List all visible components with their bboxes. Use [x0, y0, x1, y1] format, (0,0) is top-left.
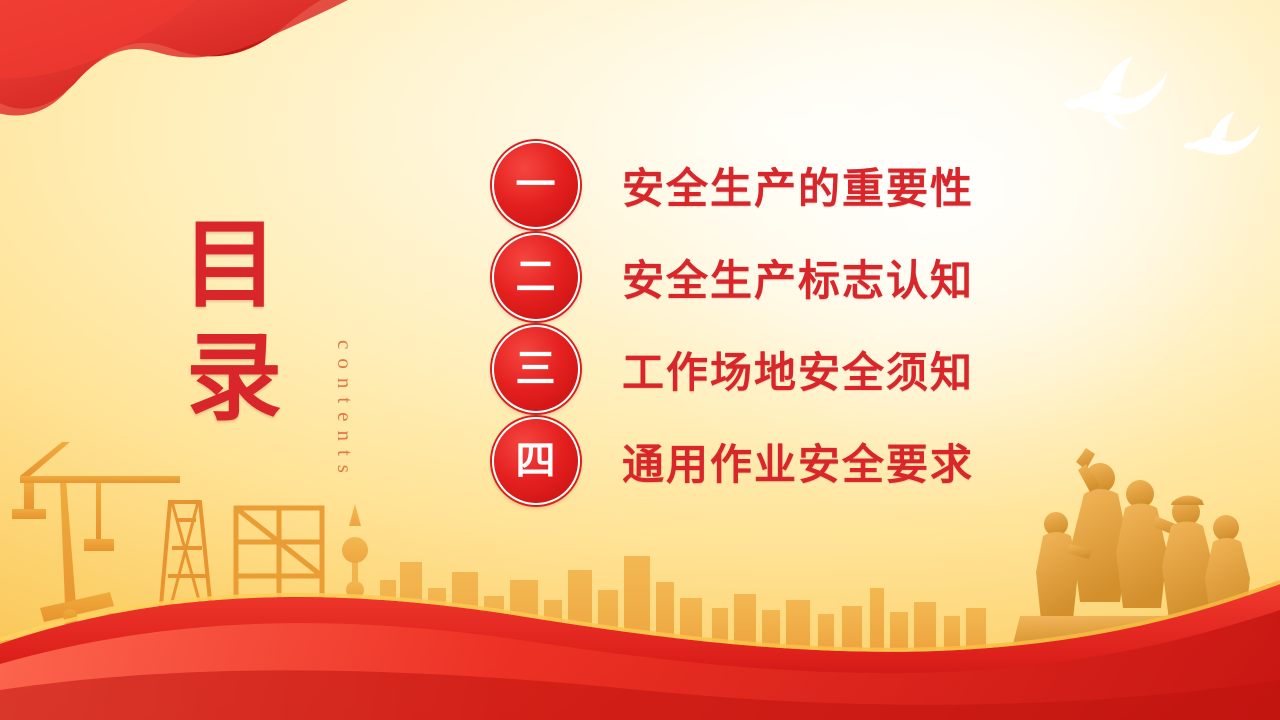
- toc-number: 二: [516, 257, 557, 297]
- toc-badge: 四: [492, 417, 580, 505]
- toc-list: 一 安全生产的重要性 二 安全生产标志认知 三 工作场地安全须知 四 通用作业安…: [492, 140, 1052, 508]
- list-item[interactable]: 一 安全生产的重要性: [492, 140, 1052, 230]
- toc-label: 安全生产的重要性: [622, 155, 974, 216]
- toc-badge: 三: [492, 325, 580, 413]
- toc-badge: 二: [492, 233, 580, 321]
- list-item[interactable]: 四 通用作业安全要求: [492, 416, 1052, 506]
- page-title-english: contents: [332, 340, 357, 482]
- page-title-char-1: 目: [182, 208, 442, 321]
- toc-label: 工作场地安全须知: [622, 339, 974, 400]
- page-title: 目 录 contents: [182, 208, 442, 468]
- dove-icon: [1178, 108, 1260, 170]
- toc-number: 一: [516, 165, 557, 205]
- toc-badge: 一: [492, 141, 580, 229]
- list-item[interactable]: 三 工作场地安全须知: [492, 324, 1052, 414]
- red-ribbon-graphic: [0, 540, 1280, 720]
- dove-icon: [1055, 48, 1175, 138]
- page-title-char-2: 录: [186, 321, 442, 434]
- toc-number: 三: [516, 349, 557, 389]
- toc-label: 通用作业安全要求: [622, 431, 974, 492]
- toc-number: 四: [516, 441, 557, 481]
- slide-root: 目 录 contents 一 安全生产的重要性 二 安全生产标志认知 三 工作场…: [0, 0, 1280, 720]
- list-item[interactable]: 二 安全生产标志认知: [492, 232, 1052, 322]
- toc-label: 安全生产标志认知: [622, 247, 974, 308]
- red-flag-graphic: [0, 0, 540, 200]
